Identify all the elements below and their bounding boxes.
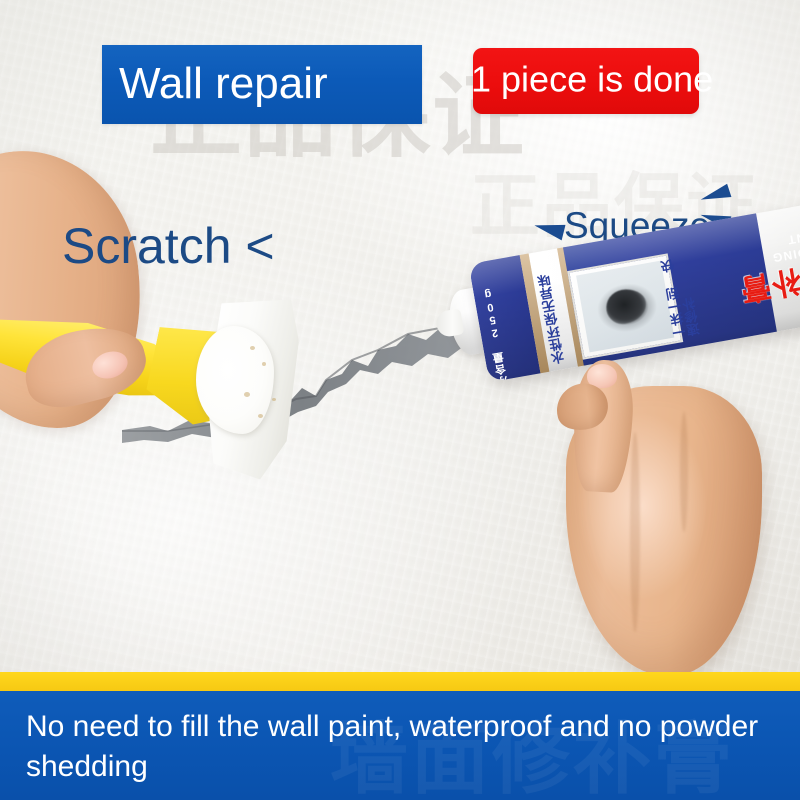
one-piece-done-banner: 1 piece is done [473, 48, 699, 114]
putty-speck [258, 414, 263, 418]
footer-blue-band: 墙面修补膏 No need to fill the wall paint, wa… [0, 691, 800, 800]
putty-speck [250, 346, 255, 350]
one-piece-done-banner-label: 1 piece is done [471, 62, 713, 98]
right-hand-crease [630, 432, 640, 632]
wall-repair-banner-label: Wall repair [119, 62, 328, 106]
right-hand-crease [680, 412, 688, 532]
right-hand [560, 352, 782, 682]
scratch-label: Scratch < [62, 221, 275, 271]
footer-yellow-stripe [0, 672, 800, 691]
wall-repair-banner: Wall repair [102, 45, 422, 124]
putty-speck [262, 362, 266, 366]
tube-damage-photo [576, 261, 674, 353]
promo-image: 正品保证 正品保证 Wall repair 1 piece is done Sc… [0, 0, 800, 800]
footer-caption: No need to fill the wall paint, waterpro… [26, 707, 766, 786]
tube-english-name: WALL MENDING OINTMENT [760, 216, 800, 267]
tube-net-weight: 净含量 250g [481, 286, 512, 382]
putty-speck [244, 392, 250, 397]
putty-speck [272, 398, 276, 401]
